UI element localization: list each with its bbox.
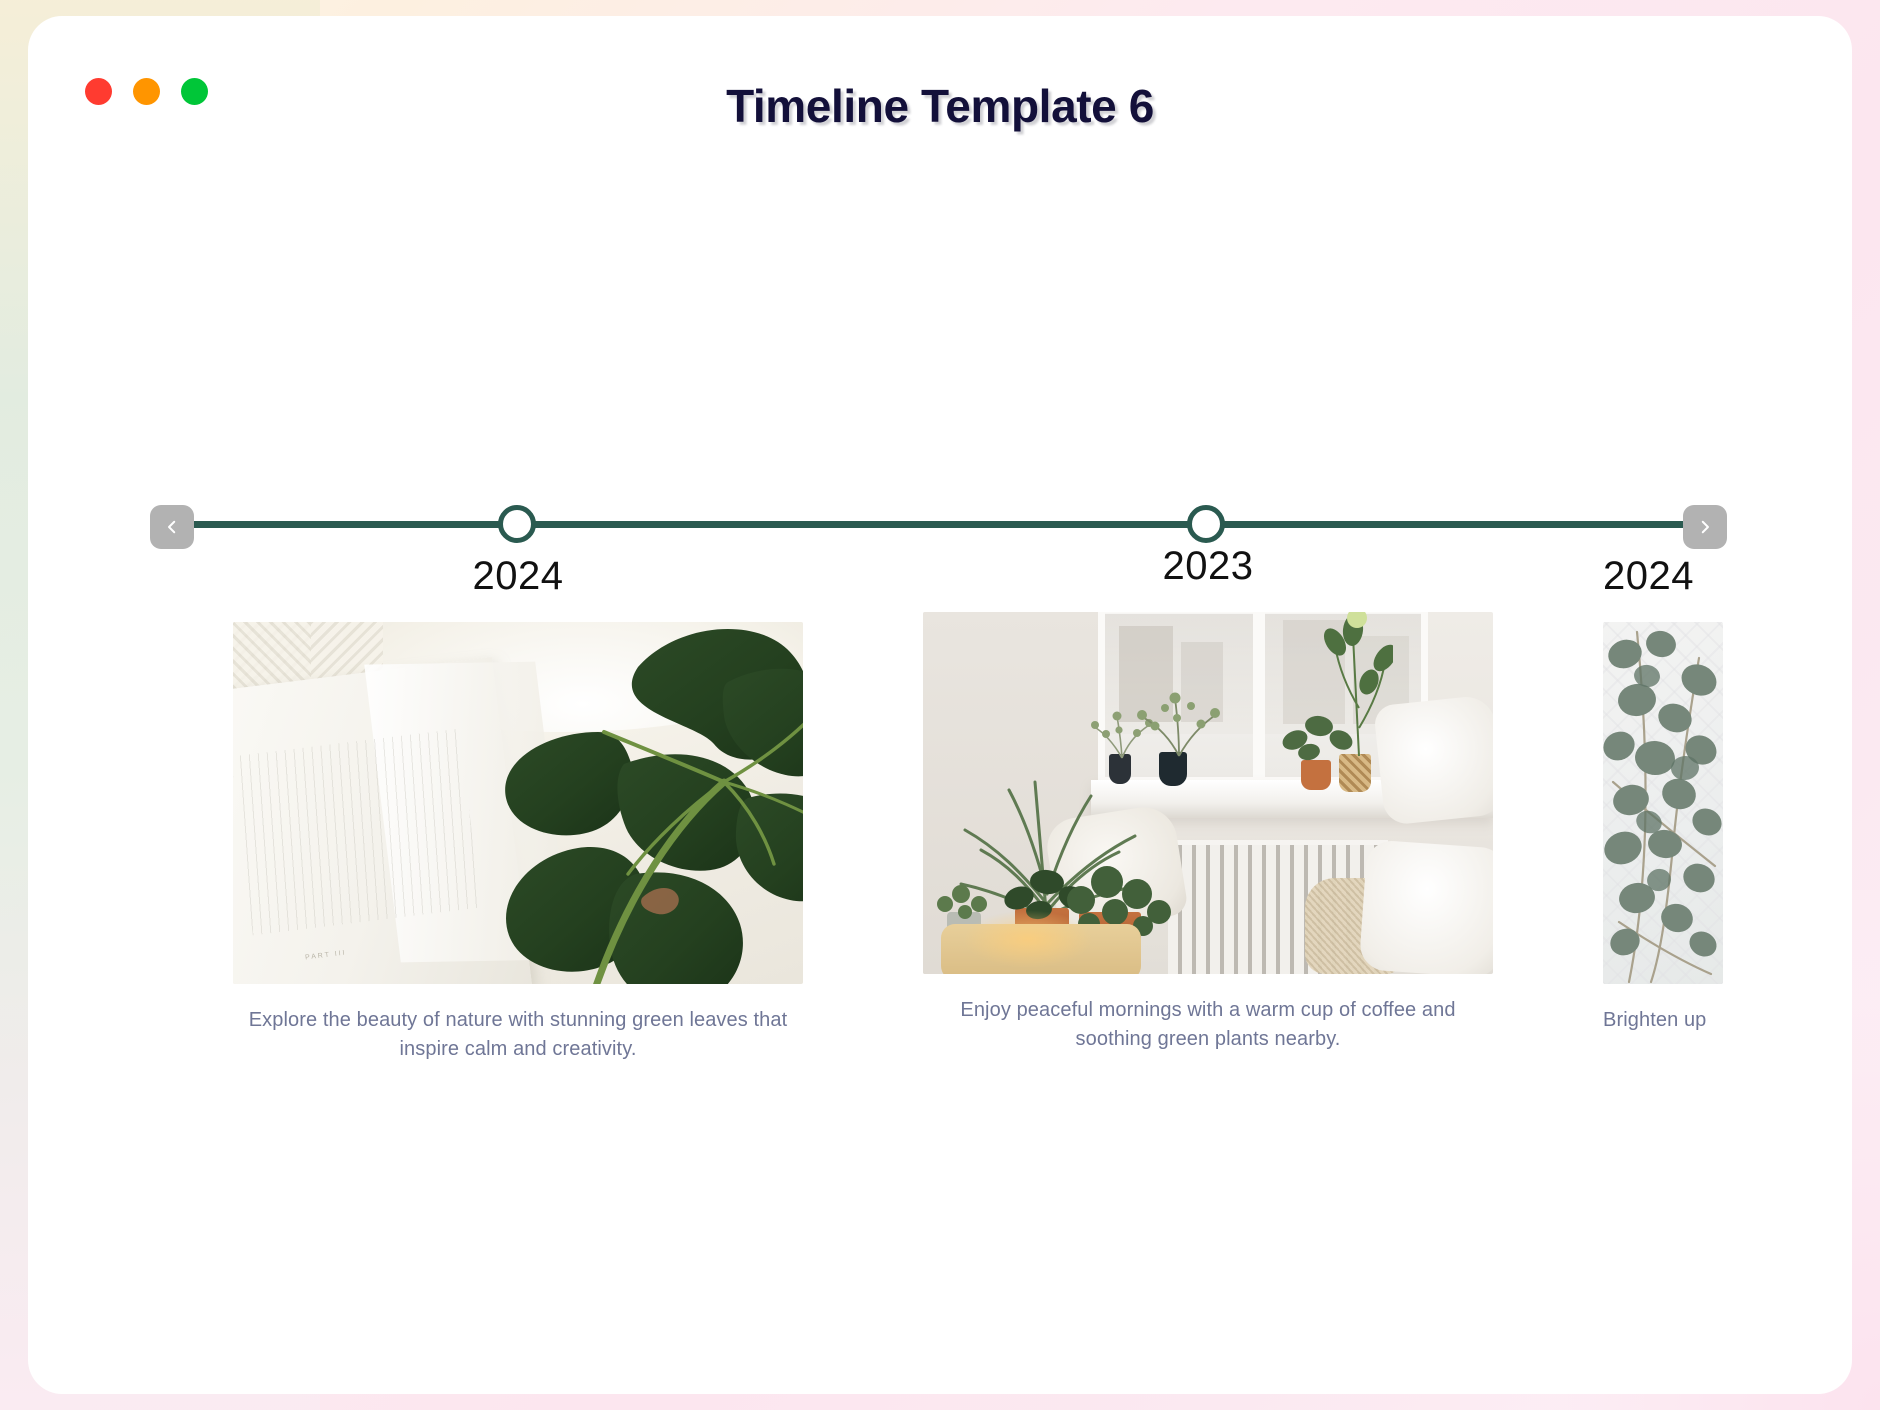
chevron-left-icon [163,518,181,536]
timeline-rail [186,521,1723,528]
timeline-item-year: 2023 [923,546,1493,586]
browser-window: Timeline Template 6 2024 [28,16,1852,1394]
timeline-item-image [1603,622,1723,984]
timeline-item[interactable]: 2024 [1603,556,1852,1035]
timeline-node-1[interactable] [498,505,536,543]
timeline-item-image [923,612,1493,974]
timeline: 2024 PART III [28,16,1852,1394]
timeline-item-caption: Brighten up [1603,1006,1803,1035]
timeline-node-2[interactable] [1187,505,1225,543]
timeline-item-caption: Explore the beauty of nature with stunni… [233,1006,803,1064]
timeline-item-year: 2024 [233,556,803,596]
timeline-prev-button[interactable] [150,505,194,549]
timeline-item[interactable]: 2024 PART III [233,556,803,1064]
timeline-item-caption: Enjoy peaceful mornings with a warm cup … [923,996,1493,1054]
chevron-right-icon [1696,518,1714,536]
timeline-next-button[interactable] [1683,505,1727,549]
timeline-item[interactable]: 2023 [923,546,1493,1054]
timeline-item-year: 2024 [1603,556,1852,596]
timeline-item-image: PART III [233,622,803,984]
